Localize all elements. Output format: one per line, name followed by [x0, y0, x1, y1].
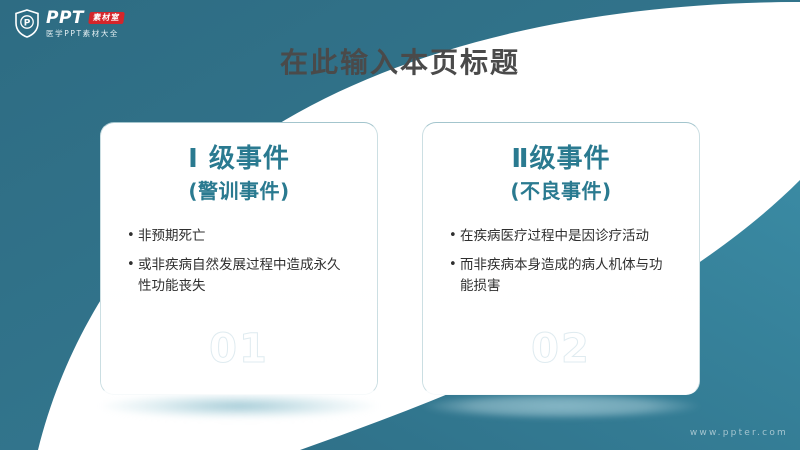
- card-number-left: 01: [101, 326, 377, 372]
- page-title: 在此输入本页标题: [0, 41, 800, 81]
- card-level-1[interactable]: Ⅰ 级事件 (警训事件) • 非预期死亡 • 或非疾病自然发展过程中造成永久性功…: [100, 122, 378, 395]
- card-body-left: • 非预期死亡 • 或非疾病自然发展过程中造成永久性功能丧失: [127, 226, 353, 298]
- bullet-dot-icon: •: [449, 226, 460, 246]
- logo-text-block: PPT 素材室 医学PPT素材大全: [46, 10, 124, 38]
- footer-watermark: www.ppter.com: [690, 428, 788, 438]
- list-item: • 而非疾病本身造成的病人机体与功能损害: [449, 255, 675, 297]
- shield-icon: P: [14, 9, 40, 38]
- bullet-dot-icon: •: [449, 255, 460, 275]
- bullet-text: 在疾病医疗过程中是因诊疗活动: [460, 226, 675, 247]
- card-header-left: Ⅰ 级事件 (警训事件): [101, 123, 377, 204]
- bullet-dot-icon: •: [127, 255, 138, 275]
- bullet-dot-icon: •: [127, 226, 138, 246]
- brand-logo[interactable]: P PPT 素材室 医学PPT素材大全: [14, 9, 124, 38]
- card-number-right: 02: [423, 326, 699, 372]
- card-level-2[interactable]: Ⅱ级事件 (不良事件) • 在疾病医疗过程中是因诊疗活动 • 而非疾病本身造成的…: [422, 122, 700, 395]
- list-item: • 在疾病医疗过程中是因诊疗活动: [449, 226, 675, 247]
- logo-top-row: PPT 素材室: [46, 10, 124, 27]
- logo-wordmark: PPT: [46, 10, 84, 27]
- bullet-text: 非预期死亡: [138, 226, 353, 247]
- card-heading-right: Ⅱ级事件: [423, 143, 699, 176]
- card-subheading-right: (不良事件): [423, 178, 699, 204]
- card-header-right: Ⅱ级事件 (不良事件): [423, 123, 699, 204]
- logo-badge: 素材室: [88, 12, 125, 24]
- slide-canvas: P PPT 素材室 医学PPT素材大全 在此输入本页标题 Ⅰ 级事件 (警训事件…: [0, 0, 800, 450]
- card-subheading-left: (警训事件): [101, 178, 377, 204]
- bullet-text: 或非疾病自然发展过程中造成永久性功能丧失: [138, 255, 353, 297]
- logo-tagline: 医学PPT素材大全: [46, 30, 124, 38]
- list-item: • 或非疾病自然发展过程中造成永久性功能丧失: [127, 255, 353, 297]
- svg-text:P: P: [24, 19, 31, 29]
- list-item: • 非预期死亡: [127, 226, 353, 247]
- card-heading-left: Ⅰ 级事件: [101, 143, 377, 176]
- card-body-right: • 在疾病医疗过程中是因诊疗活动 • 而非疾病本身造成的病人机体与功能损害: [449, 226, 675, 298]
- bullet-text: 而非疾病本身造成的病人机体与功能损害: [460, 255, 675, 297]
